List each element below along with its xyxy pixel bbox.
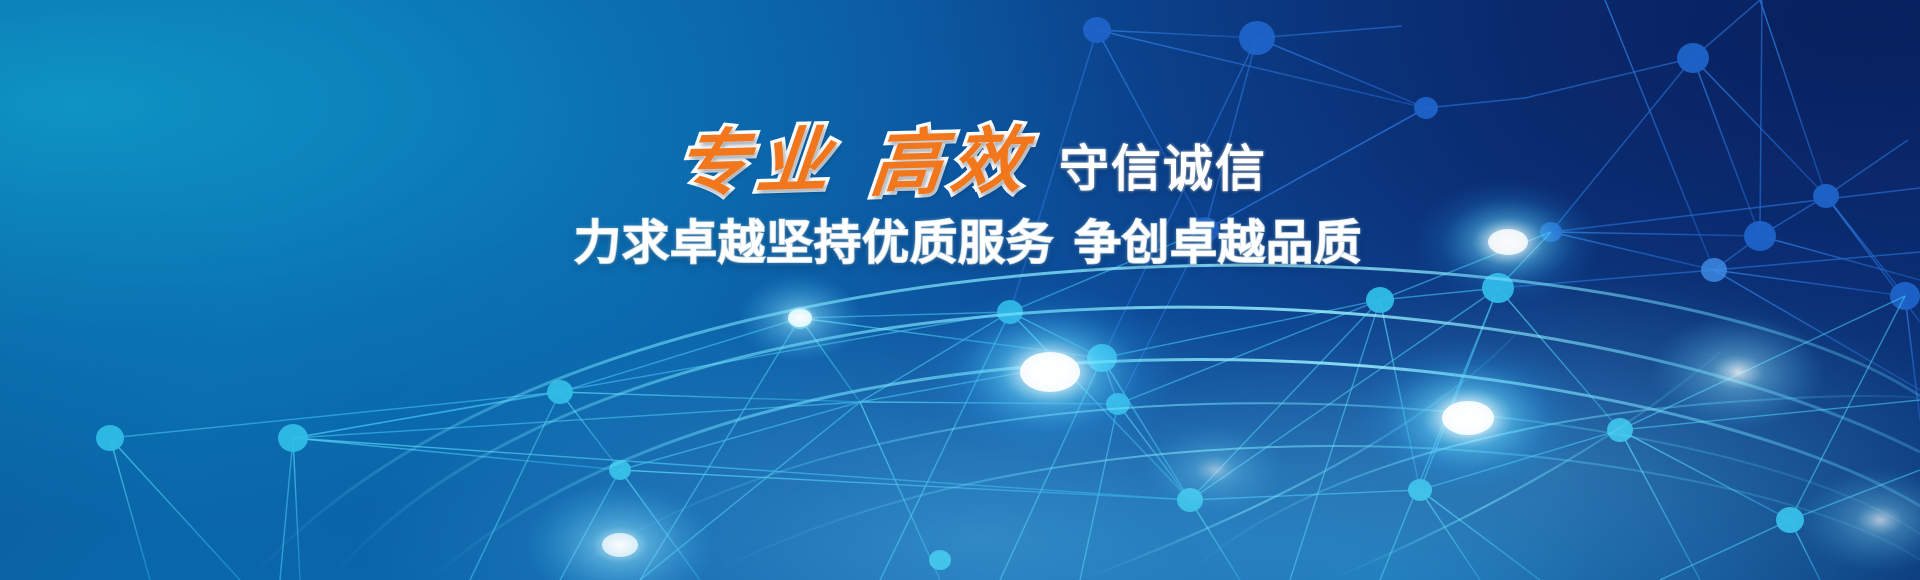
subtitle-part-2: 争创卓越品质 — [1074, 216, 1362, 269]
headline-brush-word-2: 高效 — [865, 124, 1036, 201]
hero-banner: 专业 高效 守信诚信 力求卓越坚持优质服务争创卓越品质 — [0, 0, 1920, 580]
subtitle-part-1: 力求卓越坚持优质服务 — [574, 216, 1054, 269]
light-burst-graphic — [0, 0, 1920, 580]
headline: 专业 高效 守信诚信 — [0, 126, 1920, 198]
headline-brush-word-1: 专业 — [671, 124, 842, 201]
headline-white-text: 守信诚信 — [1059, 144, 1267, 194]
subtitle: 力求卓越坚持优质服务争创卓越品质 — [0, 204, 1920, 273]
